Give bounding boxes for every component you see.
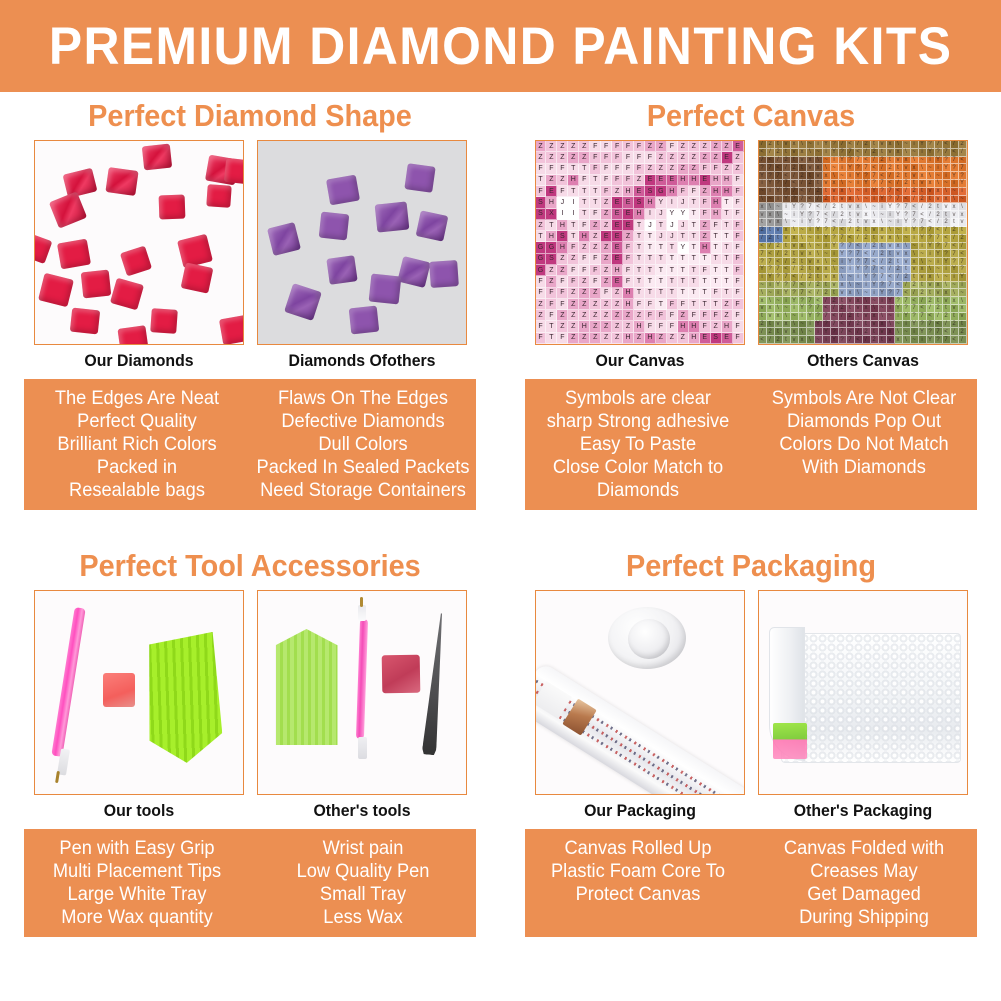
symbol-cell: Y	[759, 172, 767, 180]
symbol-cell: Y	[847, 258, 855, 266]
symbol-cell: i	[911, 235, 919, 243]
diamond-piece	[326, 255, 357, 285]
symbol-cell: \	[815, 157, 823, 165]
symbol-cell: /	[919, 203, 927, 211]
symbol-cell: Z	[601, 197, 612, 208]
photo-our-diamonds	[34, 140, 244, 345]
symbol-cell: F	[689, 186, 700, 197]
symbol-cell: ?	[871, 274, 879, 282]
symbol-cell: G	[536, 254, 547, 265]
symbol-cell: \	[839, 180, 847, 188]
symbol-cell: t	[783, 336, 791, 344]
symbol-cell: ?	[767, 172, 775, 180]
symbol-cell: Z	[612, 186, 623, 197]
photo-caption: Our tools	[38, 802, 240, 821]
symbol-cell: T	[678, 231, 689, 242]
symbol-cell: ?	[759, 258, 767, 266]
symbol-cell: 7	[887, 188, 895, 196]
tube-label-code	[535, 681, 572, 719]
symbol-cell: 2	[959, 235, 967, 243]
symbol-cell: \	[791, 321, 799, 329]
symbol-cell: 2	[927, 297, 935, 305]
symbol-cell: /	[807, 188, 815, 196]
symbol-cell: t	[839, 297, 847, 305]
symbol-cell: t	[831, 289, 839, 297]
symbol-cell: t	[767, 227, 775, 235]
symbol-cell: t	[871, 235, 879, 243]
symbol-cell: F	[612, 152, 623, 163]
symbol-cell: 7	[759, 157, 767, 165]
symbol-cell: Y	[823, 328, 831, 336]
symbol-cell: H	[711, 186, 722, 197]
symbol-cell: v	[911, 172, 919, 180]
symbol-cell: i	[799, 313, 807, 321]
section-packaging: Perfect Packaging	[501, 548, 1001, 998]
symbol-cell: F	[536, 164, 547, 175]
symbol-cell: Y	[863, 274, 871, 282]
symbol-cell: ~	[863, 289, 871, 297]
symbol-cell: Y	[823, 235, 831, 243]
symbol-cell: ~	[759, 188, 767, 196]
photo-our-canvas: ZZZZZFFFFFZZFZZZZZEZZZZZFFFFFFZZZZZZEZFF…	[535, 140, 745, 345]
symbol-cell: T	[645, 254, 656, 265]
symbol-cell: T	[645, 231, 656, 242]
symbol-cell: F	[557, 186, 568, 197]
symbol-cell: ~	[959, 196, 967, 204]
symbol-cell: \	[807, 149, 815, 157]
symbol-cell: i	[951, 274, 959, 282]
symbol-cell: 2	[871, 149, 879, 157]
symbol-cell: T	[667, 276, 678, 287]
symbol-cell: T	[579, 186, 590, 197]
symbol-cell: \	[951, 289, 959, 297]
symbol-cell: Z	[601, 265, 612, 276]
symbol-cell: F	[536, 276, 547, 287]
symbol-cell: ?	[791, 196, 799, 204]
symbol-cell: F	[590, 265, 601, 276]
section-title: Perfect Tool Accessories	[18, 548, 483, 584]
symbol-cell: ~	[847, 180, 855, 188]
symbol-cell: T	[678, 265, 689, 276]
symbol-cell: <	[847, 235, 855, 243]
symbol-cell: /	[759, 235, 767, 243]
symbol-cell: 7	[791, 282, 799, 290]
symbol-cell: v	[807, 164, 815, 172]
symbol-cell: x	[879, 227, 887, 235]
symbol-cell: t	[919, 188, 927, 196]
symbol-cell: T	[645, 265, 656, 276]
symbol-cell: ?	[823, 321, 831, 329]
symbol-cell: 2	[887, 258, 895, 266]
symbol-cell: <	[959, 250, 967, 258]
symbol-cell: H	[634, 321, 645, 332]
symbol-cell: ~	[895, 227, 903, 235]
symbol-cell: t	[863, 321, 871, 329]
row-two: Perfect Tool Accessories	[0, 548, 1001, 998]
symbol-cell: <	[935, 321, 943, 329]
symbol-cell: 7	[959, 164, 967, 172]
symbol-cell: H	[546, 197, 557, 208]
symbol-cell: <	[855, 243, 863, 251]
symbol-cell: x	[895, 243, 903, 251]
symbol-cell: E	[612, 276, 623, 287]
symbol-cell: \	[887, 321, 895, 329]
symbol-cell: <	[943, 141, 951, 149]
pen-cap	[358, 737, 367, 759]
symbol-cell: \	[807, 336, 815, 344]
symbol-cell: <	[879, 266, 887, 274]
symbol-cell: Z	[601, 276, 612, 287]
symbol-cell: ?	[767, 266, 775, 274]
symbol-cell: <	[839, 227, 847, 235]
symbol-cell: /	[815, 196, 823, 204]
symbol-cell: <	[919, 305, 927, 313]
symbol-cell: 2	[791, 258, 799, 266]
symbol-cell: <	[847, 141, 855, 149]
symbol-cell: F	[579, 175, 590, 186]
symbol-cell: Y	[919, 141, 927, 149]
symbol-cell: <	[839, 321, 847, 329]
symbol-cell: 7	[927, 227, 935, 235]
symbol-cell: /	[887, 266, 895, 274]
symbol-cell: 2	[775, 336, 783, 344]
symbol-cell: v	[879, 141, 887, 149]
symbol-cell: 7	[911, 211, 919, 219]
symbol-cell: Z	[536, 220, 547, 231]
section-title: Perfect Canvas	[519, 98, 984, 134]
symbol-cell: v	[823, 274, 831, 282]
symbol-cell: ~	[815, 149, 823, 157]
symbol-cell: Z	[579, 141, 590, 152]
symbol-cell: E	[733, 141, 744, 152]
symbol-cell: T	[689, 197, 700, 208]
symbol-cell: \	[911, 157, 919, 165]
symbol-cell: Y	[935, 157, 943, 165]
symbol-cell: t	[783, 149, 791, 157]
symbol-cell: v	[775, 321, 783, 329]
symbol-cell: x	[935, 282, 943, 290]
symbol-cell: Y	[775, 188, 783, 196]
symbol-cell: T	[722, 242, 733, 253]
symbol-cell: t	[831, 196, 839, 204]
symbol-cell: J	[667, 220, 678, 231]
symbol-cell: x	[927, 274, 935, 282]
symbol-cell: \	[807, 243, 815, 251]
symbol-cell: Y	[678, 242, 689, 253]
symbol-cell: 2	[831, 203, 839, 211]
symbol-cell: F	[601, 164, 612, 175]
symbol-cell: F	[733, 209, 744, 220]
symbol-cell: v	[839, 289, 847, 297]
symbol-cell: <	[783, 266, 791, 274]
tube-cap-inner	[628, 619, 670, 659]
symbol-cell: T	[645, 242, 656, 253]
symbol-cell: x	[831, 180, 839, 188]
symbol-cell: /	[927, 305, 935, 313]
symbol-cell: v	[871, 321, 879, 329]
symbol-cell: \	[903, 149, 911, 157]
symbol-cell: Z	[536, 152, 547, 163]
symbol-cell: 2	[927, 203, 935, 211]
symbol-cell: T	[656, 265, 667, 276]
photo-caption: Diamonds Ofothers	[261, 352, 463, 371]
photo-row	[501, 590, 1001, 795]
symbol-cell: ~	[911, 149, 919, 157]
symbol-cell: T	[634, 288, 645, 299]
symbol-cell: x	[887, 141, 895, 149]
symbol-cell: F	[590, 141, 601, 152]
symbol-cell: i	[919, 149, 927, 157]
symbol-cell: F	[557, 164, 568, 175]
symbol-cell: F	[579, 220, 590, 231]
symbol-cell: T	[656, 254, 667, 265]
symbol-cell: t	[855, 313, 863, 321]
symbol-cell: T	[546, 220, 557, 231]
symbol-cell: x	[895, 149, 903, 157]
symbol-cell: ?	[807, 305, 815, 313]
symbol-cell: ~	[903, 141, 911, 149]
symbol-cell: 2	[863, 328, 871, 336]
compare-theirs: Flaws On The Edges Defective Diamonds Du…	[255, 387, 472, 502]
symbol-cell: /	[951, 328, 959, 336]
symbol-cell: \	[959, 297, 967, 305]
symbol-cell: /	[863, 243, 871, 251]
compare-ours: The Edges Are Neat Perfect Quality Brill…	[29, 387, 246, 502]
symbol-cell: v	[927, 188, 935, 196]
symbol-cell: ~	[839, 172, 847, 180]
symbol-cell: X	[546, 209, 557, 220]
symbol-cell: \	[927, 172, 935, 180]
symbol-cell: 7	[839, 328, 847, 336]
symbol-cell: Y	[667, 209, 678, 220]
symbol-cell: /	[903, 188, 911, 196]
symbol-cell: /	[959, 243, 967, 251]
symbol-cell: 2	[863, 141, 871, 149]
symbol-cell: i	[951, 180, 959, 188]
symbol-cell: /	[879, 164, 887, 172]
compare-box: The Edges Are Neat Perfect Quality Brill…	[24, 379, 476, 510]
symbol-cell: i	[863, 282, 871, 290]
symbol-cell: F	[634, 164, 645, 175]
symbol-cell: /	[959, 149, 967, 157]
symbol-cell: 7	[767, 258, 775, 266]
symbol-cell: 2	[815, 282, 823, 290]
symbol-cell: <	[759, 149, 767, 157]
symbol-cell: H	[623, 186, 634, 197]
symbol-cell: ?	[775, 274, 783, 282]
symbol-cell: 7	[903, 203, 911, 211]
symbol-cell: ?	[783, 282, 791, 290]
symbol-cell: ~	[775, 203, 783, 211]
symbol-cell: /	[911, 196, 919, 204]
symbol-cell: i	[895, 219, 903, 227]
symbol-cell: Y	[807, 219, 815, 227]
symbol-cell: Z	[601, 220, 612, 231]
symbol-cell: v	[879, 235, 887, 243]
symbol-cell: F	[612, 164, 623, 175]
symbol-cell: x	[839, 188, 847, 196]
symbol-cell: E	[656, 175, 667, 186]
symbol-cell: ?	[895, 203, 903, 211]
symbol-cell: F	[711, 220, 722, 231]
symbol-cell: T	[689, 276, 700, 287]
symbol-cell: \	[887, 227, 895, 235]
symbol-cell: F	[557, 288, 568, 299]
symbol-cell: \	[895, 328, 903, 336]
symbol-cell: 7	[775, 266, 783, 274]
symbol-cell: x	[847, 196, 855, 204]
symbol-cell: 2	[847, 313, 855, 321]
symbol-cell: x	[775, 313, 783, 321]
symbol-cell: ~	[791, 219, 799, 227]
symbol-cell: F	[645, 299, 656, 310]
symbol-cell: t	[895, 164, 903, 172]
symbol-cell: v	[863, 219, 871, 227]
symbol-cell: i	[871, 196, 879, 204]
symbol-cell: v	[895, 157, 903, 165]
symbol-cell: T	[656, 242, 667, 253]
symbol-cell: Z	[536, 141, 547, 152]
symbol-cell: T	[689, 220, 700, 231]
symbol-cell: H	[711, 209, 722, 220]
symbol-cell: \	[847, 282, 855, 290]
diamond-piece	[374, 201, 409, 232]
symbol-cell: Z	[700, 186, 711, 197]
symbol-cell: 2	[799, 172, 807, 180]
symbol-cell: v	[943, 203, 951, 211]
symbol-cell: F	[667, 321, 678, 332]
symbol-cell: S	[711, 333, 722, 344]
symbol-cell: 2	[959, 141, 967, 149]
symbol-cell: 2	[943, 219, 951, 227]
symbol-cell: H	[557, 242, 568, 253]
symbol-cell: ?	[887, 196, 895, 204]
symbol-cell: x	[807, 157, 815, 165]
symbol-cell: <	[927, 219, 935, 227]
symbol-cell: i	[799, 219, 807, 227]
symbol-cell: 2	[823, 289, 831, 297]
symbol-cell: Z	[568, 152, 579, 163]
symbol-cell: F	[601, 288, 612, 299]
symbol-cell: F	[546, 288, 557, 299]
symbol-cell: F	[546, 299, 557, 310]
symbol-cell: Y	[831, 149, 839, 157]
symbol-cell: Y	[943, 258, 951, 266]
symbol-cell: i	[775, 289, 783, 297]
symbol-cell: v	[783, 328, 791, 336]
symbol-cell: J	[678, 220, 689, 231]
symbol-cell: i	[767, 282, 775, 290]
symbol-grid: ZZZZZFFFFFZZFZZZZZEZZZZZFFFFFFZZZZZZEZFF…	[536, 141, 744, 344]
symbol-cell: Y	[887, 297, 895, 305]
symbol-cell: ~	[951, 282, 959, 290]
symbol-cell: <	[759, 243, 767, 251]
symbol-cell: Z	[579, 276, 590, 287]
symbol-cell: F	[711, 310, 722, 321]
symbol-cell: Z	[601, 310, 612, 321]
symbol-cell: 7	[911, 305, 919, 313]
symbol-cell: i	[775, 196, 783, 204]
symbol-cell: F	[557, 333, 568, 344]
infographic-page: PREMIUM DIAMOND PAINTING KITS Perfect Di…	[0, 0, 1001, 1001]
symbol-cell: F	[579, 254, 590, 265]
symbol-cell: F	[557, 299, 568, 310]
symbol-cell: i	[935, 258, 943, 266]
symbol-cell: i	[783, 297, 791, 305]
symbol-cell: x	[911, 164, 919, 172]
caption-row: Our Packaging Other's Packaging	[501, 802, 1001, 821]
symbol-cell: ?	[903, 211, 911, 219]
symbol-cell: ?	[895, 297, 903, 305]
symbol-cell: i	[855, 274, 863, 282]
symbol-cell: F	[733, 321, 744, 332]
symbol-cell: v	[887, 336, 895, 344]
symbol-cell: /	[863, 149, 871, 157]
photo-other-packaging	[758, 590, 968, 795]
symbol-cell: Y	[911, 321, 919, 329]
symbol-cell: 7	[927, 321, 935, 329]
symbol-cell: ~	[807, 235, 815, 243]
symbol-cell: x	[863, 305, 871, 313]
symbol-cell: <	[943, 328, 951, 336]
symbol-cell: F	[623, 254, 634, 265]
symbol-cell: Z	[601, 333, 612, 344]
symbol-cell: ~	[847, 274, 855, 282]
symbol-cell: v	[887, 149, 895, 157]
symbol-cell: ~	[823, 250, 831, 258]
section-canvas: Perfect Canvas ZZZZZFFFFFZZFZZZZZEZZZZZF…	[501, 98, 1001, 538]
symbol-cell: t	[855, 219, 863, 227]
diamond-piece	[206, 184, 231, 208]
symbol-cell: 7	[943, 149, 951, 157]
symbol-cell: \	[919, 258, 927, 266]
symbol-cell: ?	[863, 266, 871, 274]
symbol-cell: i	[823, 149, 831, 157]
symbol-cell: H	[700, 242, 711, 253]
symbol-cell: i	[863, 188, 871, 196]
symbol-cell: /	[935, 219, 943, 227]
symbol-cell: /	[871, 250, 879, 258]
symbol-cell: t	[879, 336, 887, 344]
symbol-cell: \	[871, 211, 879, 219]
symbol-cell: x	[783, 227, 791, 235]
symbol-cell: I	[645, 209, 656, 220]
symbol-cell: ~	[767, 196, 775, 204]
symbol-cell: \	[943, 188, 951, 196]
symbol-cell: \	[799, 235, 807, 243]
symbol-cell: ~	[775, 297, 783, 305]
symbol-cell: 2	[879, 250, 887, 258]
symbol-cell: t	[871, 141, 879, 149]
symbol-cell: ?	[943, 250, 951, 258]
symbol-cell: Z	[678, 141, 689, 152]
symbol-cell: ~	[879, 211, 887, 219]
symbol-cell: T	[634, 265, 645, 276]
symbol-cell: t	[815, 274, 823, 282]
symbol-cell: x	[863, 211, 871, 219]
symbol-cell: <	[911, 297, 919, 305]
symbol-cell: 2	[895, 172, 903, 180]
symbol-cell: I	[568, 209, 579, 220]
symbol-cell: E	[623, 197, 634, 208]
symbol-cell: T	[678, 288, 689, 299]
symbol-cell: 7	[799, 289, 807, 297]
symbol-cell: /	[895, 274, 903, 282]
symbol-cell: \	[823, 164, 831, 172]
symbol-cell: T	[546, 321, 557, 332]
symbol-cell: ~	[815, 243, 823, 251]
symbol-cell: 7	[807, 297, 815, 305]
